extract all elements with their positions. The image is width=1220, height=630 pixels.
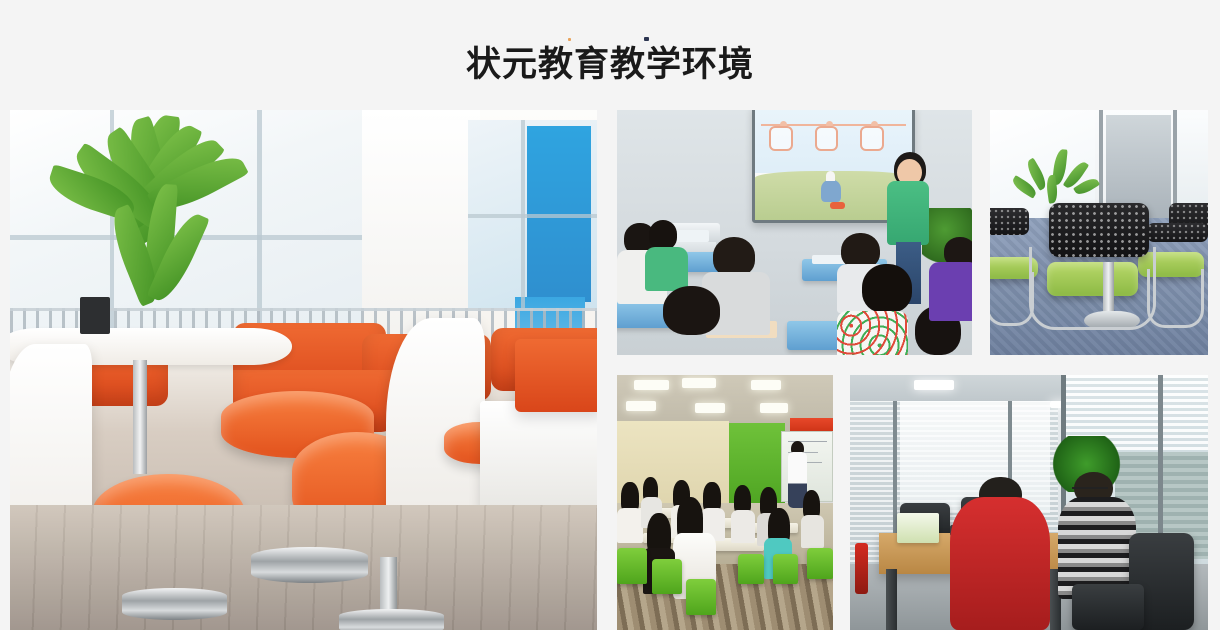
orange-speck	[568, 38, 571, 41]
photo-meeting-chairs[interactable]: 会议区，绿色坐垫黑色网背座椅与绿植，蓝灰色地毯	[990, 110, 1208, 355]
tissue-box	[897, 513, 940, 544]
page-title: 状元教育教学环境	[0, 42, 1220, 88]
page-header: 状元教育教学环境	[0, 0, 1220, 110]
photo-classroom-projector[interactable]: 多媒体教室，老师在投影白板前授课，学生坐在蓝色课桌前	[617, 110, 972, 355]
photo-classroom-green[interactable]: 小班教室，学生坐绿色椅子听讲，老师在白板前书写，绿色背景墙	[617, 375, 833, 630]
photo-lounge[interactable]: 明亮休息区，橙白色现代沙发卡座与绿植，落地窗	[10, 110, 597, 630]
photo-gallery: 明亮休息区，橙白色现代沙发卡座与绿植，落地窗	[0, 110, 1220, 630]
photo-consult-office[interactable]: 咨询办公室，两人坐在木质办公桌前交谈，玻璃隔断与绿植	[850, 375, 1208, 630]
navy-speck	[644, 37, 649, 41]
